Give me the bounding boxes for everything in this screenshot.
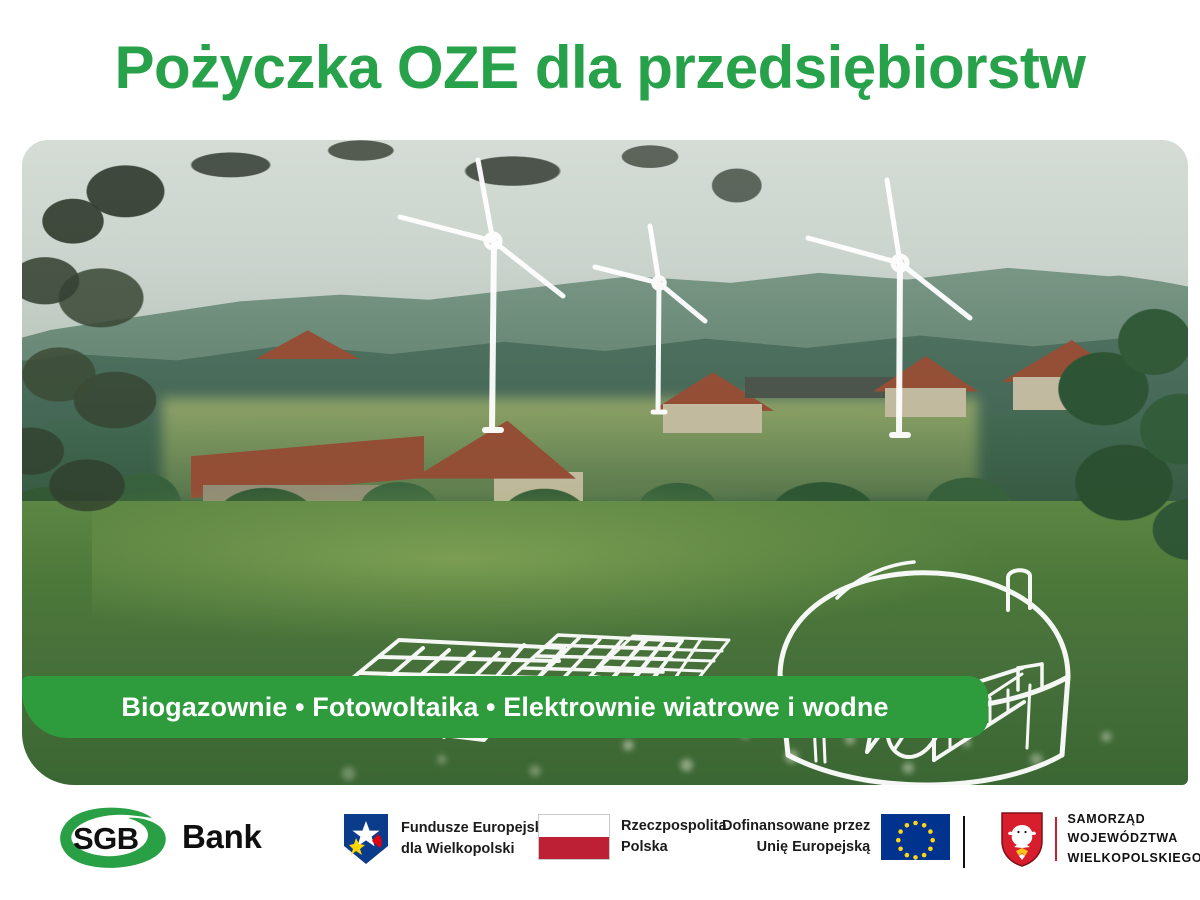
features-banner: Biogazownie • Fotowoltaika • Elektrownie… <box>22 676 988 738</box>
unia-europejska-logo: Dofinansowane przez Unię Europejską <box>722 814 950 860</box>
samorzad-wojewodztwa-wielkopolskiego-logo: SAMORZĄD WOJEWÓDZTWA WIELKOPOLSKIEGO <box>1000 810 1200 868</box>
rp-line-2: Polska <box>621 837 727 858</box>
wind-turbine-illustration <box>400 160 563 430</box>
sw-line-3: WIELKOPOLSKIEGO <box>1068 849 1200 868</box>
samorzad-text: SAMORZĄD WOJEWÓDZTWA WIELKOPOLSKIEGO <box>1068 810 1200 868</box>
ue-line-2: Unię Europejską <box>722 837 870 858</box>
fe-line-2: dla Wielkopolski <box>401 839 555 860</box>
unia-europejska-text: Dofinansowane przez Unię Europejską <box>722 816 870 857</box>
biogas-plant-illustration <box>780 562 1068 785</box>
rzeczpospolita-polska-text: Rzeczpospolita Polska <box>621 816 727 857</box>
footer-divider <box>963 816 965 868</box>
sgb-bank-logo: SGB Bank <box>52 804 262 870</box>
sgb-swoosh-icon: SGB <box>52 804 178 870</box>
features-banner-text: Biogazownie • Fotowoltaika • Elektrownie… <box>121 692 888 723</box>
logo-footer: SGB Bank Fundusze Europejskie dla Wielko… <box>0 798 1200 893</box>
rp-line-1: Rzeczpospolita <box>621 816 727 837</box>
sw-line-1: SAMORZĄD <box>1068 810 1200 829</box>
wind-turbine-illustration <box>595 226 705 412</box>
poland-flag-icon <box>538 814 610 860</box>
wielkopolska-coat-of-arms-icon <box>1000 811 1044 867</box>
sw-line-2: WOJEWÓDZTWA <box>1068 829 1200 848</box>
rzeczpospolita-polska-logo: Rzeczpospolita Polska <box>538 814 727 860</box>
wind-turbine-illustration <box>808 180 970 435</box>
page-title: Pożyczka OZE dla przedsiębiorstw <box>0 36 1200 99</box>
eu-flag-icon <box>881 814 950 860</box>
fe-line-1: Fundusze Europejskie <box>401 818 555 839</box>
fundusze-europejskie-logo: Fundusze Europejskie dla Wielkopolski <box>342 812 555 866</box>
poster-root: Pożyczka OZE dla przedsiębiorstw <box>0 0 1200 900</box>
ue-line-1: Dofinansowane przez <box>722 816 870 837</box>
fundusze-europejskie-text: Fundusze Europejskie dla Wielkopolski <box>401 818 555 859</box>
fundusze-europejskie-flag-icon <box>342 812 390 866</box>
sgb-bank-wordmark: Bank <box>182 818 262 856</box>
sgb-mark-text: SGB <box>73 821 139 857</box>
samorzad-rule <box>1055 817 1057 861</box>
